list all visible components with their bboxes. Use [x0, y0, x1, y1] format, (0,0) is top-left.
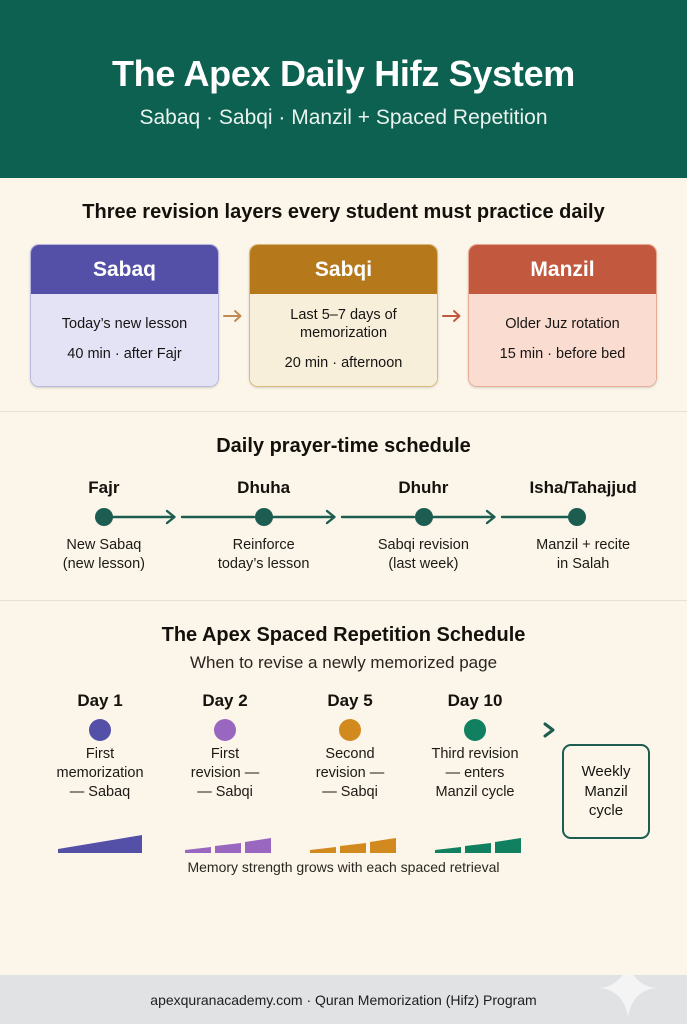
card-manzil-title: Manzil — [469, 245, 656, 294]
milestone-desc-day2: First revision — — Sabqi — [155, 745, 295, 802]
layer-cards-row: Sabaq Today’s new lesson 40 min · after … — [0, 244, 687, 387]
card-sabqi-body: Last 5–7 days of memorization 20 min · a… — [250, 294, 437, 386]
card-manzil-line1: Older Juz rotation — [505, 315, 619, 333]
strength-bar-day1 — [58, 835, 142, 853]
prayer-task-dhuha: Reinforce today’s lesson — [184, 536, 344, 574]
prayer-task-dhuhr: Sabqi revision (last week) — [344, 536, 504, 574]
spaced-repetition-section: The Apex Spaced Repetition Schedule When… — [0, 601, 687, 975]
card-manzil-line2: 15 min · before bed — [500, 345, 626, 363]
spaced-desc-row: First memorization — Sabaq First revisio… — [0, 745, 687, 821]
revision-layers-section: Three revision layers every student must… — [0, 178, 687, 411]
strength-bar-day10 — [435, 838, 521, 853]
card-sabaq-line1: Today’s new lesson — [62, 315, 187, 333]
sparkle-diamond-icon — [597, 975, 659, 1019]
prayer-label-isha: Isha/Tahajjud — [503, 478, 663, 498]
spaced-section-title: The Apex Spaced Repetition Schedule — [0, 623, 687, 647]
spaced-timeline: Day 1 Day 2 Day 5 Day 10 — [0, 691, 687, 891]
prayer-track — [24, 504, 663, 530]
prayer-label-dhuhr: Dhuhr — [344, 478, 504, 498]
prayer-label-dhuha: Dhuha — [184, 478, 344, 498]
prayer-desc-row: New Sabaq (new lesson) Reinforce today’s… — [24, 536, 663, 574]
milestone-desc-day1: First memorization — Sabaq — [30, 745, 170, 802]
card-sabaq[interactable]: Sabaq Today’s new lesson 40 min · after … — [30, 244, 219, 387]
milestone-desc-day10: Third revision — enters Manzil cycle — [405, 745, 545, 802]
card-sabqi-title: Sabqi — [250, 245, 437, 294]
arrow-right-icon — [438, 244, 468, 387]
card-manzil-body: Older Juz rotation 15 min · before bed — [469, 294, 656, 386]
prayer-task-fajr: New Sabaq (new lesson) — [24, 536, 184, 574]
infographic-poster: The Apex Daily Hifz System Sabaq · Sabqi… — [0, 0, 687, 1024]
day-label-5: Day 5 — [327, 691, 372, 711]
milestone-dot-day5 — [339, 719, 361, 741]
prayer-timeline: Fajr Dhuha Dhuhr Isha/Tahajjud — [0, 478, 687, 573]
prayer-schedule-section: Daily prayer-time schedule Fajr Dhuha Dh… — [0, 412, 687, 599]
memory-strength-caption: Memory strength grows with each spaced r… — [0, 859, 687, 875]
strength-bar-day5 — [310, 838, 396, 853]
card-sabaq-line2: 40 min · after Fajr — [67, 345, 181, 363]
spaced-day-labels: Day 1 Day 2 Day 5 Day 10 — [0, 691, 687, 715]
layers-section-title: Three revision layers every student must… — [0, 200, 687, 224]
spaced-track — [0, 715, 687, 745]
spaced-section-subtitle: When to revise a newly memorized page — [0, 653, 687, 673]
day-label-10: Day 10 — [448, 691, 503, 711]
page-title: The Apex Daily Hifz System — [112, 54, 575, 94]
memory-strength-chart — [0, 825, 687, 857]
prayer-section-title: Daily prayer-time schedule — [0, 434, 687, 458]
arrow-right-icon — [219, 244, 249, 387]
prayer-label-fajr: Fajr — [24, 478, 184, 498]
card-manzil[interactable]: Manzil Older Juz rotation 15 min · befor… — [468, 244, 657, 387]
poster-footer: apexquranacademy.com · Quran Memorizatio… — [0, 975, 687, 1024]
milestone-desc-day5: Second revision — — Sabqi — [280, 745, 420, 802]
poster-header: The Apex Daily Hifz System Sabaq · Sabqi… — [0, 0, 687, 178]
card-sabqi-line2: 20 min · afternoon — [285, 354, 403, 372]
strength-bar-day2 — [185, 838, 271, 853]
milestone-dot-day2 — [214, 719, 236, 741]
page-subtitle: Sabaq · Sabqi · Manzil + Spaced Repetiti… — [140, 105, 548, 130]
milestone-dot-day10 — [464, 719, 486, 741]
card-sabqi[interactable]: Sabqi Last 5–7 days of memorization 20 m… — [249, 244, 438, 387]
card-sabqi-line1: Last 5–7 days of memorization — [258, 306, 429, 342]
card-sabaq-title: Sabaq — [31, 245, 218, 294]
card-sabaq-body: Today’s new lesson 40 min · after Fajr — [31, 294, 218, 386]
prayer-name-row: Fajr Dhuha Dhuhr Isha/Tahajjud — [24, 478, 663, 498]
milestone-dot-day1 — [89, 719, 111, 741]
prayer-task-isha: Manzil + recite in Salah — [503, 536, 663, 574]
day-label-2: Day 2 — [202, 691, 247, 711]
day-label-1: Day 1 — [77, 691, 122, 711]
footer-text: apexquranacademy.com · Quran Memorizatio… — [150, 992, 536, 1008]
